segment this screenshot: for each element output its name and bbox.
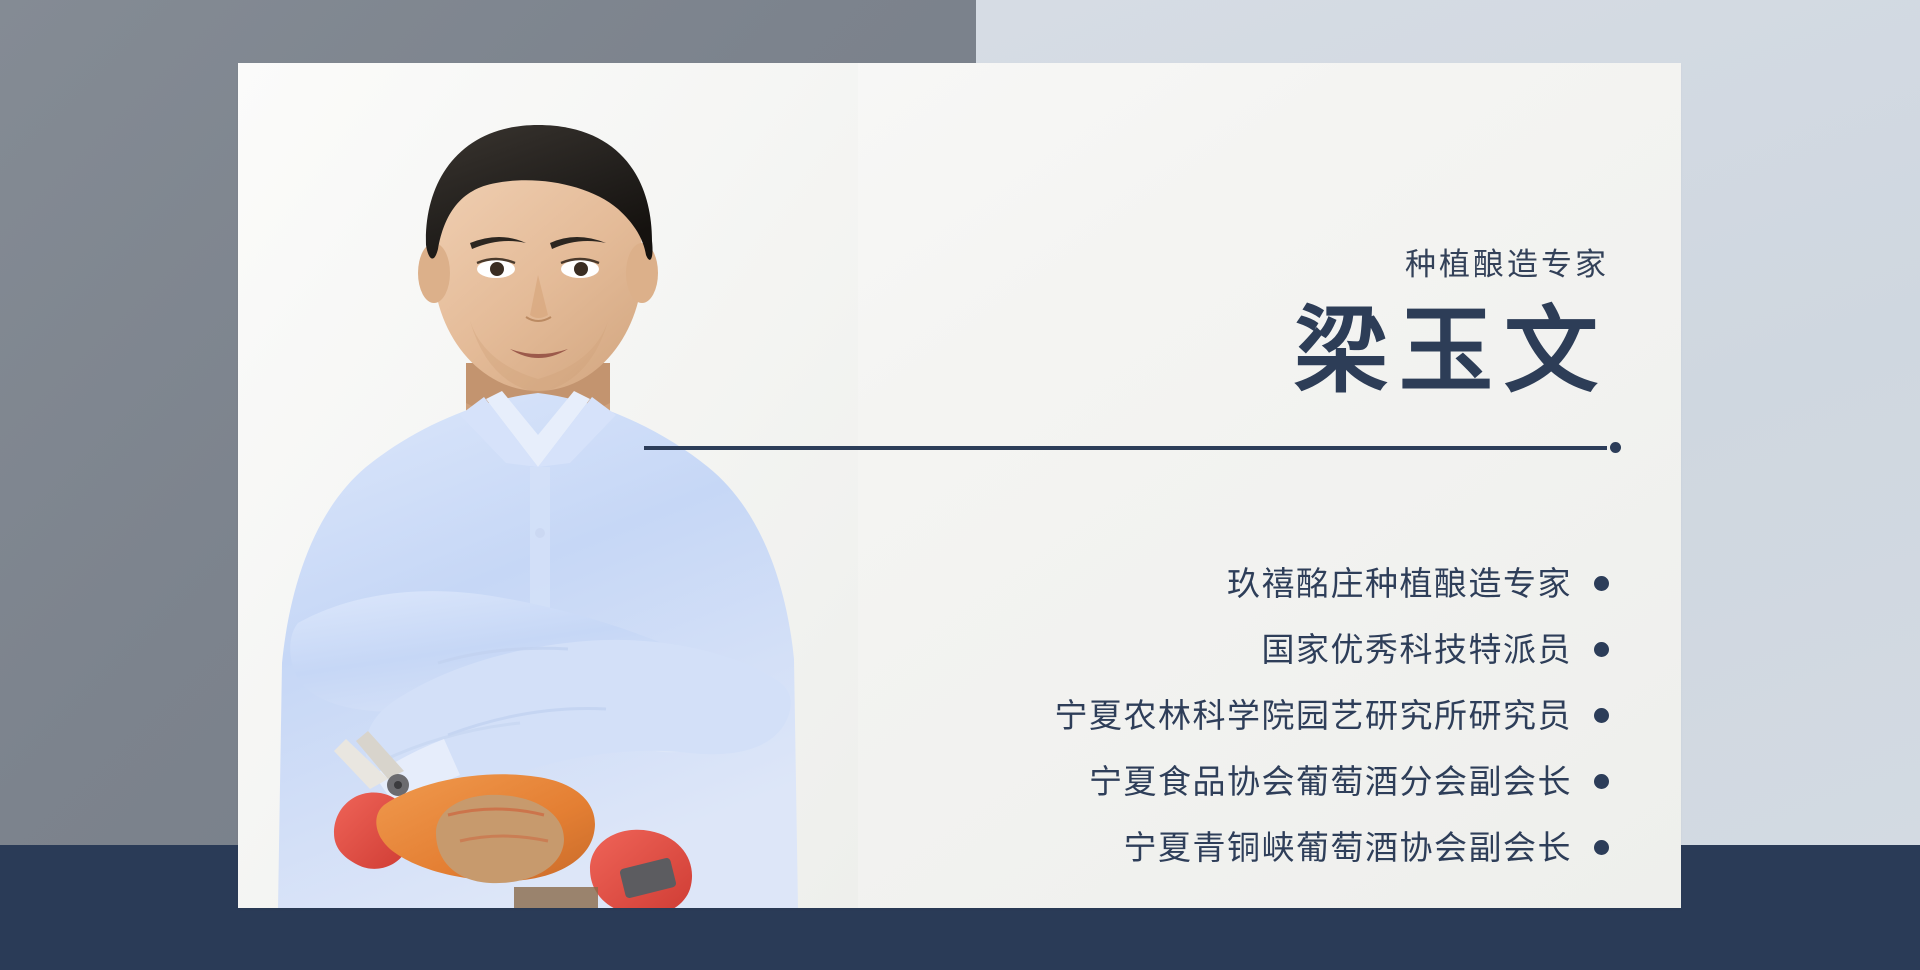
person-name: 梁玉文 <box>1294 303 1609 402</box>
list-item: 玖禧酩庄种植酿造专家 <box>709 550 1609 616</box>
bullet-dot-icon <box>1594 840 1609 855</box>
bullet-dot-icon <box>1594 576 1609 591</box>
credential-label: 宁夏青铜峡葡萄酒协会副会长 <box>1124 831 1573 864</box>
list-item: 宁夏食品协会葡萄酒分会副会长 <box>709 748 1609 814</box>
credential-label: 国家优秀科技特派员 <box>1262 633 1573 666</box>
bullet-dot-icon <box>1594 708 1609 723</box>
list-item: 国家优秀科技特派员 <box>709 616 1609 682</box>
divider <box>644 445 1621 450</box>
divider-rule <box>644 446 1607 450</box>
bullet-dot-icon <box>1594 774 1609 789</box>
profile-card: 种植酿造专家 梁玉文 玖禧酩庄种植酿造专家 国家优秀科技特派员 宁夏农林科学院园… <box>238 63 1681 908</box>
banner-stage: 种植酿造专家 梁玉文 玖禧酩庄种植酿造专家 国家优秀科技特派员 宁夏农林科学院园… <box>0 0 1920 970</box>
list-item: 宁夏青铜峡葡萄酒协会副会长 <box>709 814 1609 880</box>
role-eyebrow: 种植酿造专家 <box>1405 249 1609 280</box>
credential-label: 宁夏农林科学院园艺研究所研究员 <box>1055 699 1573 732</box>
list-item: 宁夏农林科学院园艺研究所研究员 <box>709 682 1609 748</box>
credentials-list: 玖禧酩庄种植酿造专家 国家优秀科技特派员 宁夏农林科学院园艺研究所研究员 宁夏食… <box>709 550 1609 880</box>
divider-endpoint-dot <box>1610 442 1621 453</box>
credential-label: 宁夏食品协会葡萄酒分会副会长 <box>1089 765 1572 798</box>
credential-label: 玖禧酩庄种植酿造专家 <box>1227 567 1572 600</box>
bullet-dot-icon <box>1594 642 1609 657</box>
